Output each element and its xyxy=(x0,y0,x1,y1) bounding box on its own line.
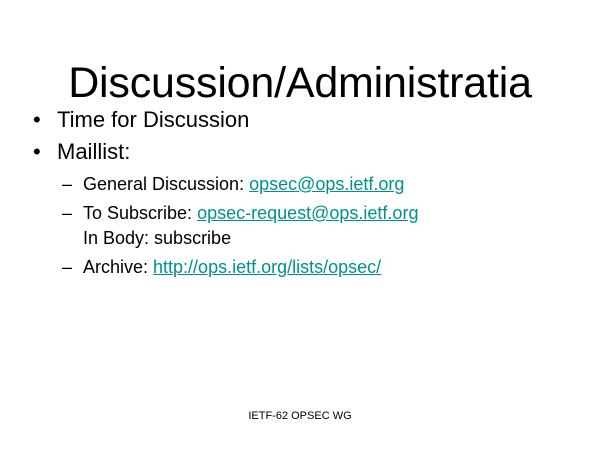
page-title: Discussion/Administratia xyxy=(0,57,600,109)
slide-footer: IETF-62 OPSEC WG xyxy=(0,409,600,423)
dash-icon: – xyxy=(62,200,72,226)
dash-icon: – xyxy=(62,254,72,280)
in-body-instruction: In Body: subscribe xyxy=(83,228,231,248)
sub-list-item-continuation: In Body: subscribe xyxy=(0,226,600,251)
list-item-label: Maillist: xyxy=(57,139,130,164)
slide-body: • Time for Discussion • Maillist: – Gene… xyxy=(0,104,600,280)
sub-list-item-label: To Subscribe: xyxy=(83,203,197,223)
list-item-label: Time for Discussion xyxy=(57,107,249,132)
sub-list-item-label: Archive: xyxy=(83,257,153,277)
list-item: • Time for Discussion xyxy=(0,104,600,136)
mailto-link-general-discussion[interactable]: opsec@ops.ietf.org xyxy=(249,174,404,194)
archive-url-link[interactable]: http://ops.ietf.org/lists/opsec/ xyxy=(153,257,381,277)
sub-list-item: – Archive: http://ops.ietf.org/lists/ops… xyxy=(0,254,600,280)
sub-list-item-label: General Discussion: xyxy=(83,174,249,194)
sub-list-item: – General Discussion: opsec@ops.ietf.org xyxy=(0,171,600,197)
dash-icon: – xyxy=(62,171,72,197)
mailto-link-subscribe[interactable]: opsec-request@ops.ietf.org xyxy=(197,203,418,223)
bullet-icon: • xyxy=(33,104,41,136)
slide: Discussion/Administratia • Time for Disc… xyxy=(0,0,600,450)
bullet-icon: • xyxy=(33,136,41,168)
sub-list-item: – To Subscribe: opsec-request@ops.ietf.o… xyxy=(0,200,600,226)
list-item: • Maillist: xyxy=(0,136,600,168)
